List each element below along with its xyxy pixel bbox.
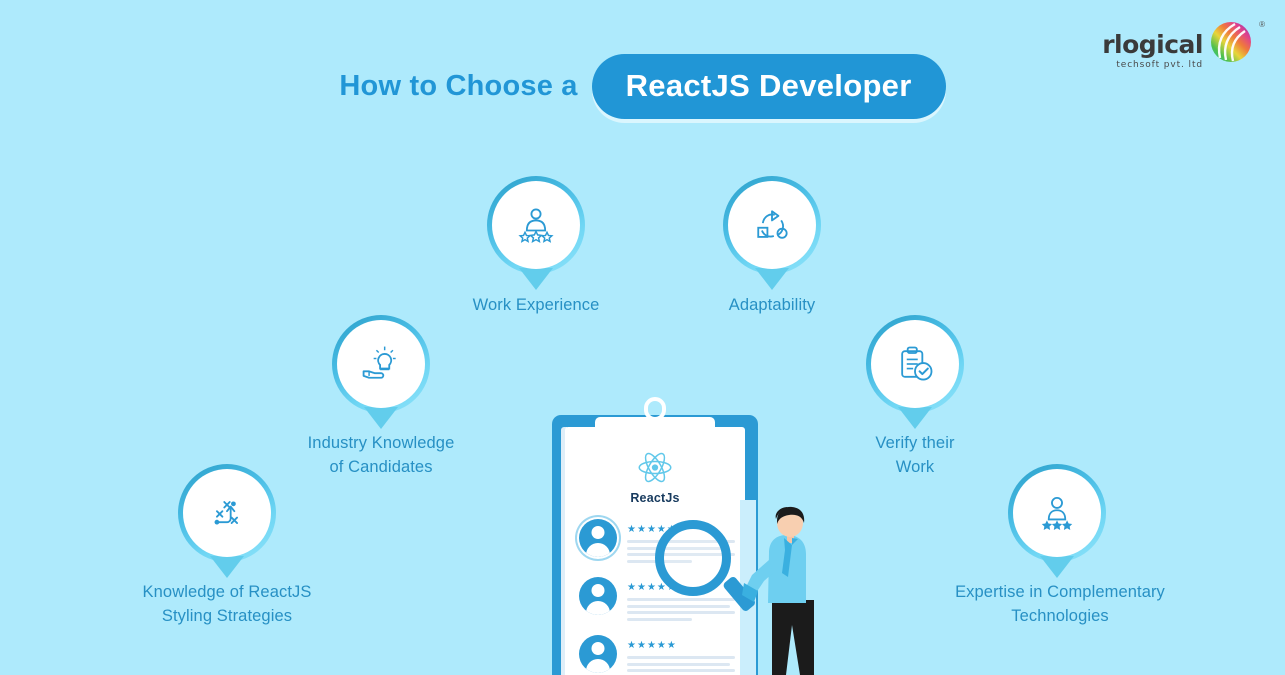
candidate-row[interactable]: ★★★★★ xyxy=(579,635,735,675)
pin-expertise-complementary-technologies[interactable] xyxy=(1008,464,1106,562)
avatar-body xyxy=(586,601,610,615)
pin-work-experience[interactable] xyxy=(487,176,585,274)
star-icon: ★ xyxy=(627,582,637,593)
text-line xyxy=(627,663,730,666)
star-icon: ★ xyxy=(647,582,657,593)
pin-verify-their-work[interactable] xyxy=(866,315,964,413)
pin-adaptability[interactable] xyxy=(723,176,821,274)
pin-label-industry-knowledge: Industry Knowledge of Candidates xyxy=(281,432,481,480)
star-icon: ★ xyxy=(627,524,637,535)
star-icon: ★ xyxy=(667,640,677,651)
user-avatar-icon xyxy=(579,519,617,557)
pin-inner xyxy=(728,181,816,269)
pin-label-adaptability: Adaptability xyxy=(692,294,852,318)
pin-label-line-1: Verify their xyxy=(845,432,985,456)
pin-label-line-1: Knowledge of ReactJS xyxy=(117,581,337,605)
text-line xyxy=(627,605,730,608)
pin-label-line-2: of Candidates xyxy=(281,456,481,480)
text-line xyxy=(627,611,735,614)
pin-label-work-experience: Work Experience xyxy=(436,294,636,318)
page-title: How to Choose a ReactJS Developer xyxy=(0,54,1285,119)
cycle-shapes-icon xyxy=(750,203,794,247)
avatar-body xyxy=(586,659,610,673)
text-line xyxy=(627,618,692,621)
pin-label-line-2: Technologies xyxy=(930,605,1190,629)
star-icon: ★ xyxy=(637,640,647,651)
candidate-star-rating: ★★★★★ xyxy=(627,636,735,652)
user-avatar-icon xyxy=(579,635,617,673)
pin-inner xyxy=(871,320,959,408)
react-atom-icon xyxy=(637,451,673,484)
user-avatar-icon xyxy=(579,577,617,615)
avatar-body xyxy=(586,543,610,557)
star-icon: ★ xyxy=(647,640,657,651)
text-line xyxy=(627,598,735,601)
user-rating-stars-icon xyxy=(1035,491,1079,535)
avatar-head xyxy=(592,526,605,539)
title-highlight-pill: ReactJS Developer xyxy=(592,54,946,119)
star-icon: ★ xyxy=(647,524,657,535)
pin-tail xyxy=(755,268,789,290)
star-icon: ★ xyxy=(627,640,637,651)
pin-tail xyxy=(210,556,244,578)
pin-label-line-2: Work xyxy=(845,456,985,480)
pin-label-knowledge-reactjs-styling: Knowledge of ReactJS Styling Strategies xyxy=(117,581,337,629)
title-prefix: How to Choose a xyxy=(339,70,577,103)
star-icon: ★ xyxy=(637,524,647,535)
person-with-stars-icon xyxy=(514,203,558,247)
pin-tail xyxy=(1040,556,1074,578)
pin-label-line-1: Expertise in Complementary xyxy=(930,581,1190,605)
pin-inner xyxy=(492,181,580,269)
clipboard-tech-label: ReactJs xyxy=(565,491,745,505)
text-line xyxy=(627,669,735,672)
pin-label-line-1: Industry Knowledge xyxy=(281,432,481,456)
avatar-head xyxy=(592,584,605,597)
pin-label-verify-their-work: Verify their Work xyxy=(845,432,985,480)
pin-tail xyxy=(364,407,398,429)
pin-inner xyxy=(337,320,425,408)
pin-inner xyxy=(1013,469,1101,557)
text-line xyxy=(627,656,735,659)
clipboard-clamp xyxy=(595,417,715,438)
pin-tail xyxy=(519,268,553,290)
star-icon: ★ xyxy=(637,582,647,593)
pin-label-line-2: Styling Strategies xyxy=(117,605,337,629)
candidate-details: ★★★★★ xyxy=(627,635,735,675)
infographic-canvas: rlogical techsoft pvt. ltd xyxy=(0,0,1285,675)
pin-knowledge-reactjs-styling[interactable] xyxy=(178,464,276,562)
avatar-head xyxy=(592,642,605,655)
pin-industry-knowledge[interactable] xyxy=(332,315,430,413)
registered-mark: ® xyxy=(1259,20,1265,29)
strategy-path-icon xyxy=(205,491,249,535)
pin-label-expertise-complementary-technologies: Expertise in Complementary Technologies xyxy=(930,581,1190,629)
hand-lightbulb-icon xyxy=(359,342,403,386)
clipboard-tech-header: ReactJs xyxy=(565,451,745,505)
pin-inner xyxy=(183,469,271,557)
star-icon: ★ xyxy=(657,640,667,651)
clipboard-check-icon xyxy=(893,342,937,386)
recruiter-person-icon xyxy=(742,505,837,675)
magnifying-glass-icon xyxy=(655,520,731,596)
pin-tail xyxy=(898,407,932,429)
